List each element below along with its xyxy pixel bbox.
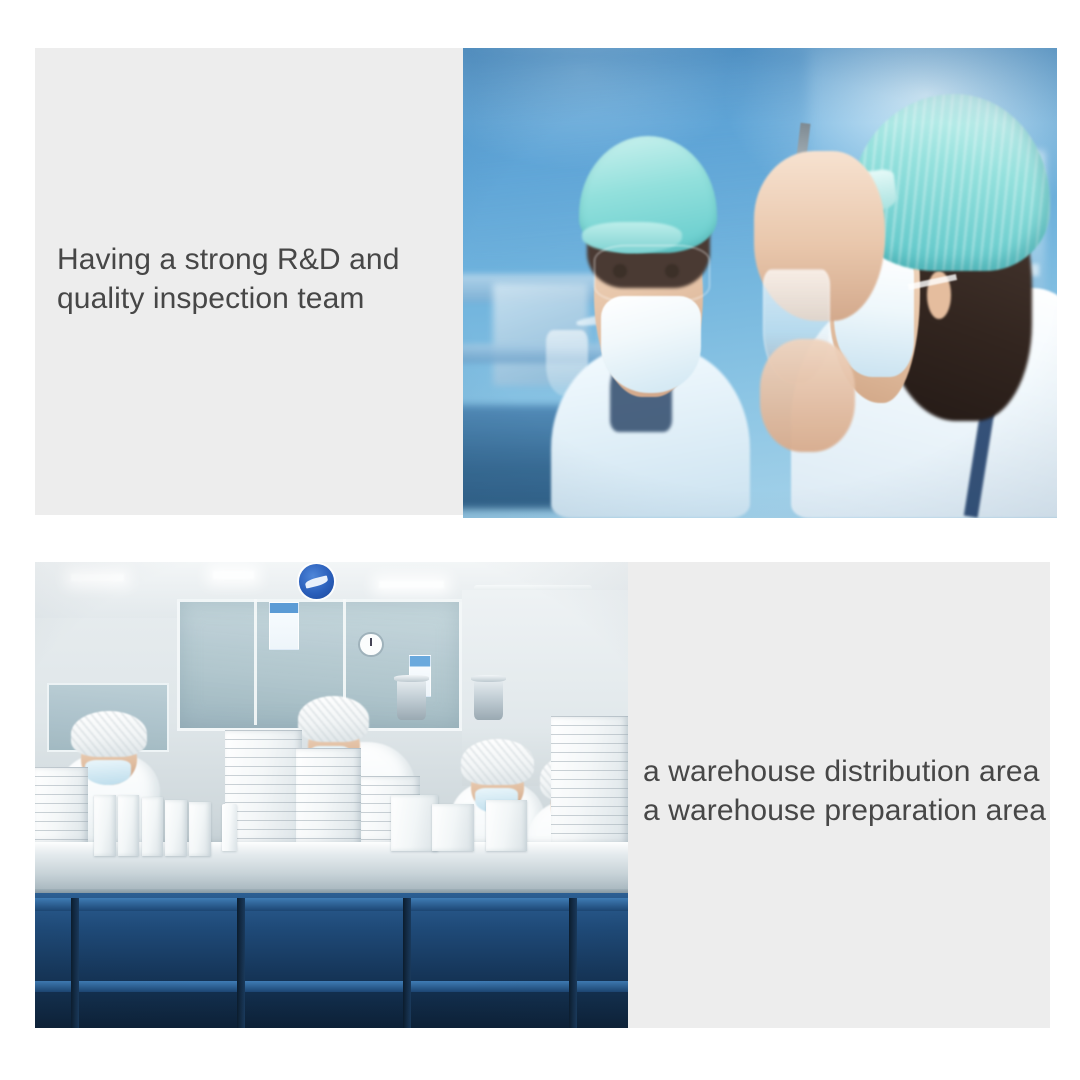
technician-hand-lower <box>760 339 855 452</box>
carton-stack <box>296 748 361 851</box>
stainless-steel-pot <box>474 679 504 721</box>
table-leg <box>237 898 245 1028</box>
table-frame-rail <box>35 981 628 991</box>
ceiling-light <box>379 581 444 588</box>
white-carton <box>165 800 186 856</box>
worker-hairnet <box>298 696 369 742</box>
wall-clock <box>358 632 383 657</box>
white-carton <box>391 795 438 851</box>
white-carton <box>432 804 474 851</box>
lab-technician-left <box>546 128 784 518</box>
white-carton <box>142 797 163 855</box>
white-bottle <box>222 804 237 851</box>
ceiling-light <box>213 571 255 578</box>
table-frame-rail <box>35 898 628 912</box>
technician-safety-glasses <box>594 245 710 302</box>
warehouse-packing-photo <box>35 562 628 1028</box>
table-leg <box>71 898 79 1028</box>
table-frame-blue <box>35 893 628 1028</box>
carton-stack <box>551 716 628 846</box>
window-mullion <box>254 599 257 725</box>
white-carton <box>486 800 528 851</box>
rd-quality-inspection-photo <box>463 48 1057 518</box>
worker-hairnet <box>461 739 533 785</box>
white-carton <box>118 795 139 856</box>
top-caption: Having a strong R&D and quality inspecti… <box>57 240 457 318</box>
worker-face-mask <box>85 760 131 785</box>
worker-hairnet <box>71 711 148 757</box>
promo-page: Having a strong R&D and quality inspecti… <box>0 0 1080 1080</box>
table-leg <box>403 898 411 1028</box>
white-carton <box>94 795 115 856</box>
wall-notice-poster <box>269 602 298 651</box>
ceiling-light <box>71 574 124 581</box>
bottom-text-panel: a warehouse distribution area a warehous… <box>628 562 1050 1028</box>
table-leg <box>569 898 577 1028</box>
top-text-panel: Having a strong R&D and quality inspecti… <box>35 48 465 515</box>
bottom-section: a warehouse distribution area a warehous… <box>0 530 1080 1080</box>
bottom-caption: a warehouse distribution area a warehous… <box>643 752 1053 830</box>
top-section: Having a strong R&D and quality inspecti… <box>0 0 1080 530</box>
technician-face-mask <box>601 296 701 394</box>
white-carton <box>189 802 210 856</box>
